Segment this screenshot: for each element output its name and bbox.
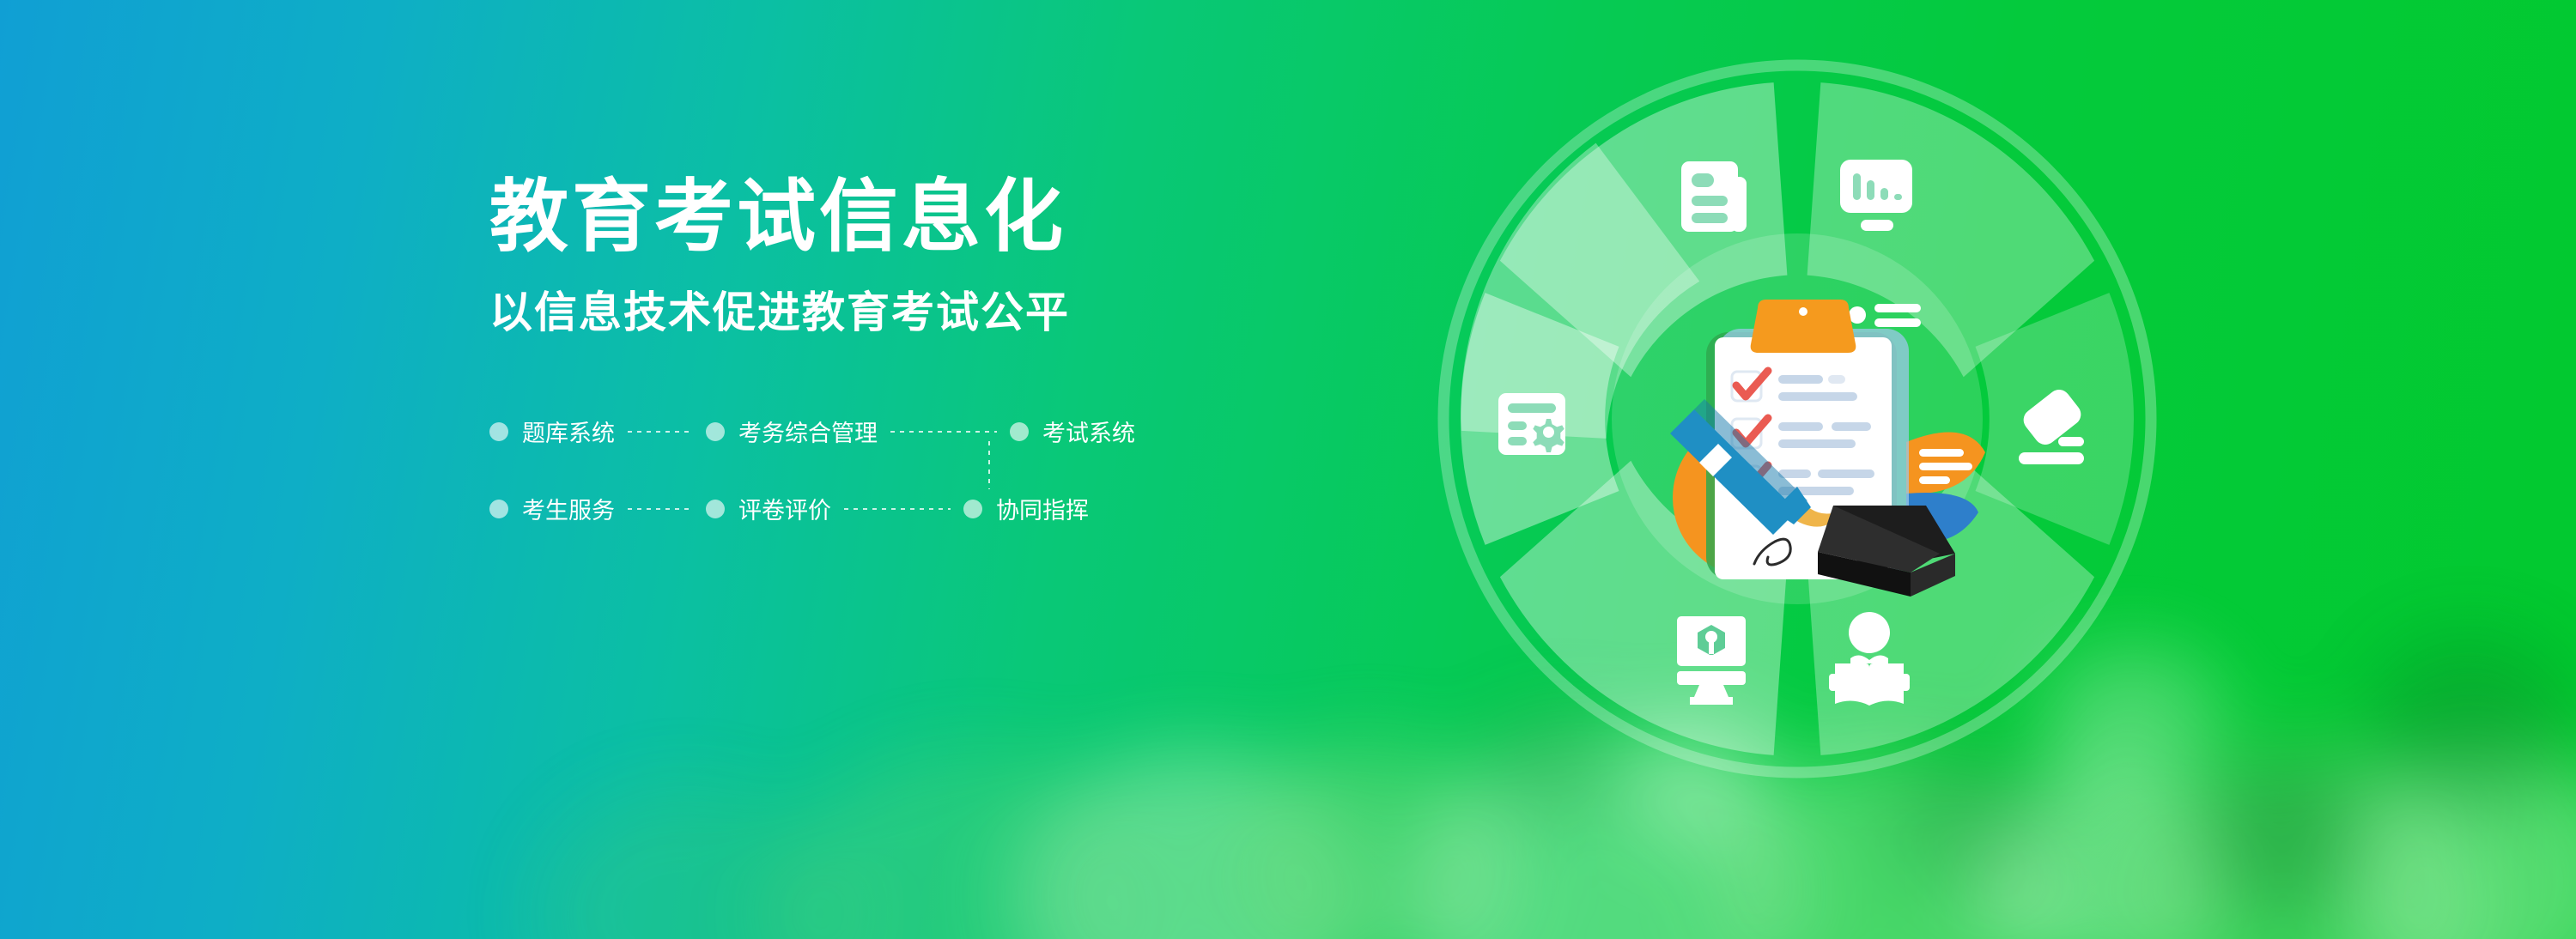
feature-row: 考生服务 评卷评价 协同指挥 [489, 489, 1135, 529]
vertical-dashed-connector [988, 441, 990, 489]
bullet-dot-icon [1010, 422, 1029, 441]
feature-item-label[interactable]: 考务综合管理 [738, 415, 878, 448]
document-icon [1681, 161, 1747, 232]
page-subtitle: 以信息技术促进教育考试公平 [489, 278, 1135, 340]
bullet-dot-icon [489, 422, 508, 441]
dashed-connector-icon [890, 431, 997, 433]
dashed-connector-icon [628, 431, 693, 433]
feature-item-label[interactable]: 题库系统 [522, 415, 615, 448]
bullet-dot-icon [706, 422, 725, 441]
page-title: 教育考试信息化 [489, 176, 1135, 259]
feature-item-label[interactable]: 协同指挥 [996, 492, 1089, 525]
feature-item-label[interactable]: 考试系统 [1042, 415, 1135, 448]
blurred-crowd-backdrop [0, 458, 2576, 939]
tag-label [1849, 304, 1921, 327]
feature-list: 题库系统 考务综合管理 考试系统 考生服务 评卷评价 协同指挥 [489, 412, 1135, 529]
banner-content: 教育考试信息化 以信息技术促进教育考试公平 题库系统 考务综合管理 考试系统 考… [489, 176, 1135, 529]
center-illustration [1662, 296, 2022, 657]
bullet-dot-icon [706, 500, 725, 518]
orange-clip [1751, 300, 1856, 353]
feature-row: 题库系统 考务综合管理 考试系统 [489, 412, 1135, 451]
dashed-connector-icon [628, 508, 693, 510]
dashed-connector-icon [844, 508, 951, 510]
bullet-dot-icon [489, 500, 508, 518]
hero-banner: 教育考试信息化 以信息技术促进教育考试公平 题库系统 考务综合管理 考试系统 考… [0, 0, 2576, 939]
feature-item-label[interactable]: 评卷评价 [738, 492, 831, 525]
feature-item-label[interactable]: 考生服务 [522, 492, 615, 525]
settings-form-icon [1498, 393, 1565, 455]
bullet-dot-icon [963, 500, 982, 518]
